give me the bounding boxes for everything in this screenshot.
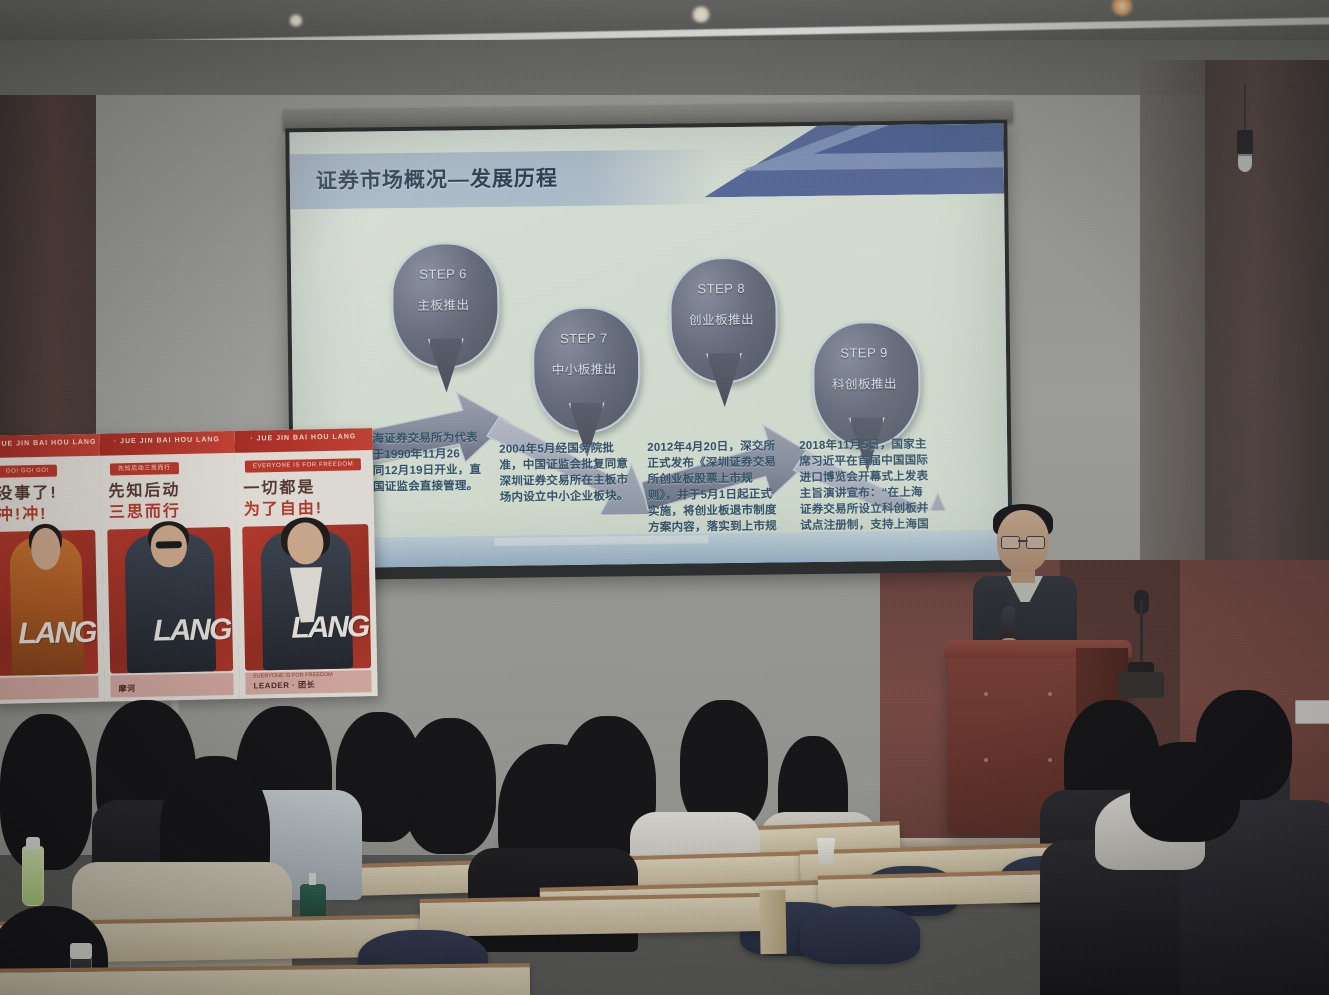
poster-person-sunglasses-icon <box>156 541 182 548</box>
step-name: 创业板推出 <box>670 308 774 328</box>
slide-bottom-band <box>294 530 1008 569</box>
poster-person-head <box>31 528 61 570</box>
step-marker-2: STEP 7 中小板推出 <box>531 306 637 457</box>
green-tea-bottle <box>22 846 44 906</box>
poster-tag: EVERYONE IS FOR FREEDOM <box>245 458 362 472</box>
slide-title: 证券市场概况—发展历程 <box>316 162 558 195</box>
projected-slide: 证券市场概况—发展历程 <box>289 124 1008 569</box>
speaker-cable <box>1244 84 1246 132</box>
audience-head <box>1130 742 1240 842</box>
poster-wordmark: LANG <box>18 616 96 652</box>
podium-stud <box>1048 758 1052 762</box>
poster-person <box>9 536 84 676</box>
desk-row-1b <box>420 893 761 937</box>
ceiling-light <box>690 6 712 23</box>
step-marker-3: STEP 8 创业板推出 <box>669 256 775 407</box>
audience-head <box>0 714 92 870</box>
poster-slogan: 没事了! 冲!冲! <box>0 482 95 526</box>
podium-stud <box>984 758 988 762</box>
microphone-stand <box>1140 600 1143 670</box>
poster-3: · JUE JIN BAI HOU LANG EVERYONE IS FOR F… <box>234 428 378 699</box>
poster-tag: GO! GO! GO! <box>0 465 57 478</box>
poster-slogan: 先知后动 三思而行 <box>108 479 230 524</box>
poster-footer <box>0 676 99 700</box>
poster-1: · JUE JIN BAI HOU LANG GO! GO! GO! 没事了! … <box>0 434 105 704</box>
lecture-hall-photo: 证券市场概况—发展历程 <box>0 0 1329 995</box>
poster-role-tag: EVERYONE IS FOR FREEDOM <box>253 672 332 680</box>
wall-outlet-icon <box>1295 700 1329 724</box>
poster-2: · JUE JIN BAI HOU LANG 先知后动三思而行 先知后动 三思而… <box>99 431 240 702</box>
poster-person-head <box>287 523 324 565</box>
wall-speaker-cone-icon <box>1238 156 1252 172</box>
desk-side-panel <box>759 890 786 954</box>
poster-banner: · JUE JIN BAI HOU LANG <box>99 431 234 456</box>
ceiling-soffit <box>0 40 1329 102</box>
poster-photo-area: LANG <box>242 524 371 671</box>
poster-banner: · JUE JIN BAI HOU LANG <box>234 428 372 453</box>
poster-photo-area: LANG <box>0 530 98 676</box>
poster-board: · JUE JIN BAI HOU LANG GO! GO! GO! 没事了! … <box>0 428 378 704</box>
step-marker-1: STEP 6 主板推出 <box>391 242 497 393</box>
poster-wordmark: LANG <box>153 613 231 649</box>
step-label: STEP 8 <box>697 281 745 297</box>
step-name: 主板推出 <box>391 294 495 314</box>
ceiling-light <box>288 14 304 27</box>
seat <box>800 906 920 964</box>
step-label: STEP 7 <box>560 331 608 347</box>
poster-banner: · JUE JIN BAI HOU LANG <box>0 434 100 458</box>
poster-slogan: 一切都是 为了自由! <box>243 476 368 521</box>
wall-speaker-icon <box>1237 130 1253 154</box>
poster-tag: 先知后动三思而行 <box>110 462 179 475</box>
step-name: 中小板推出 <box>532 358 636 378</box>
podium-equipment <box>1118 672 1164 698</box>
audience-head <box>680 700 768 830</box>
poster-person <box>260 530 354 670</box>
poster-person-head <box>151 525 187 567</box>
poster-wordmark: LANG <box>291 610 369 646</box>
glasses-icon <box>1001 536 1045 547</box>
step-label: STEP 9 <box>840 345 888 361</box>
step-name: 科创板推出 <box>812 373 916 393</box>
poster-role-cn: 摩诃 <box>118 683 135 694</box>
podium-stud <box>1048 692 1052 696</box>
poster-role: LEADER · 团长 <box>253 679 315 691</box>
poster-footer: 摩诃 <box>110 673 233 698</box>
poster-footer: EVERYONE IS FOR FREEDOM LEADER · 团长 <box>245 670 371 695</box>
desk-row-front <box>0 963 530 995</box>
poster-person <box>125 533 216 673</box>
podium-stud <box>984 692 988 696</box>
projector-screen-frame: 证券市场概况—发展历程 <box>285 120 1012 581</box>
step-label: STEP 6 <box>419 266 467 282</box>
step-caption-2: 2004年5月经国务院批准，中国证监会批复同意深圳证券交易所在主板市场内设立中小… <box>499 440 632 506</box>
poster-photo-area: LANG <box>107 527 233 674</box>
